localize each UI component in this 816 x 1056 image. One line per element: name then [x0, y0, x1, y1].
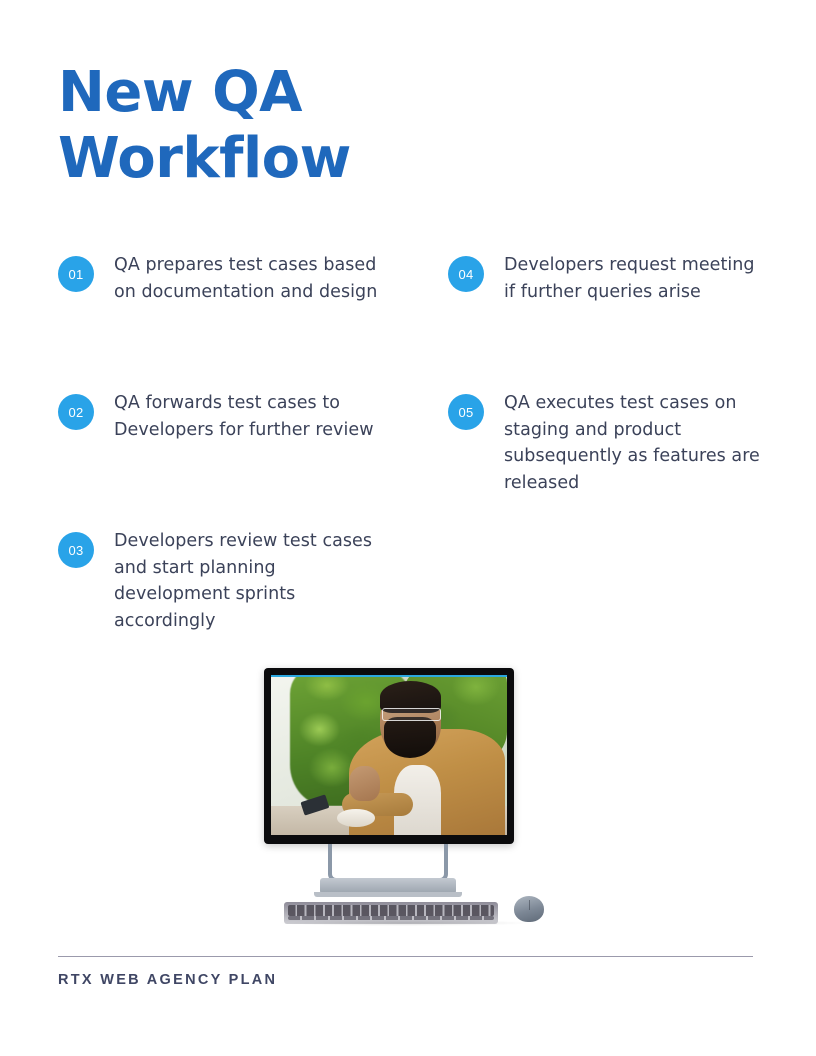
step-number-badge: 02 [58, 394, 94, 430]
desktop-computer-illustration [262, 668, 554, 918]
step-item-04: 04 Developers request meeting if further… [448, 252, 768, 305]
footer-divider [58, 956, 753, 957]
monitor-stand-arm [328, 844, 448, 882]
step-item-05: 05 QA executes test cases on staging and… [448, 390, 768, 496]
step-description: QA executes test cases on staging and pr… [504, 390, 768, 496]
monitor-bezel [264, 668, 514, 844]
step-description: QA prepares test cases based on document… [114, 252, 394, 305]
device-drop-shadow [280, 920, 530, 926]
screen-top-highlight [271, 675, 507, 677]
step-description: Developers request meeting if further qu… [504, 252, 768, 305]
scene-person-thumbs-up-hand [349, 766, 380, 801]
scene-coffee-cup [337, 809, 375, 827]
scene-person-glasses [382, 708, 441, 721]
step-number-badge: 05 [448, 394, 484, 430]
page-title-line-2: Workflow [58, 126, 578, 192]
step-number-badge: 04 [448, 256, 484, 292]
step-number-badge: 03 [58, 532, 94, 568]
monitor-screen [271, 675, 507, 835]
step-item-03: 03 Developers review test cases and star… [58, 528, 394, 634]
mouse [514, 896, 544, 922]
footer-label: RTX WEB AGENCY PLAN [58, 972, 277, 988]
monitor-stand-foot [314, 892, 462, 897]
step-number-badge: 01 [58, 256, 94, 292]
slide-page: New QA Workflow 01 QA prepares test case… [0, 0, 816, 1056]
step-description: Developers review test cases and start p… [114, 528, 394, 634]
step-item-01: 01 QA prepares test cases based on docum… [58, 252, 394, 305]
keyboard-key-row-top [288, 905, 494, 916]
step-item-02: 02 QA forwards test cases to Developers … [58, 390, 394, 443]
mouse-button-seam [529, 900, 530, 910]
step-description: QA forwards test cases to Developers for… [114, 390, 394, 443]
page-title-line-1: New QA [58, 60, 578, 126]
page-title: New QA Workflow [58, 60, 578, 192]
